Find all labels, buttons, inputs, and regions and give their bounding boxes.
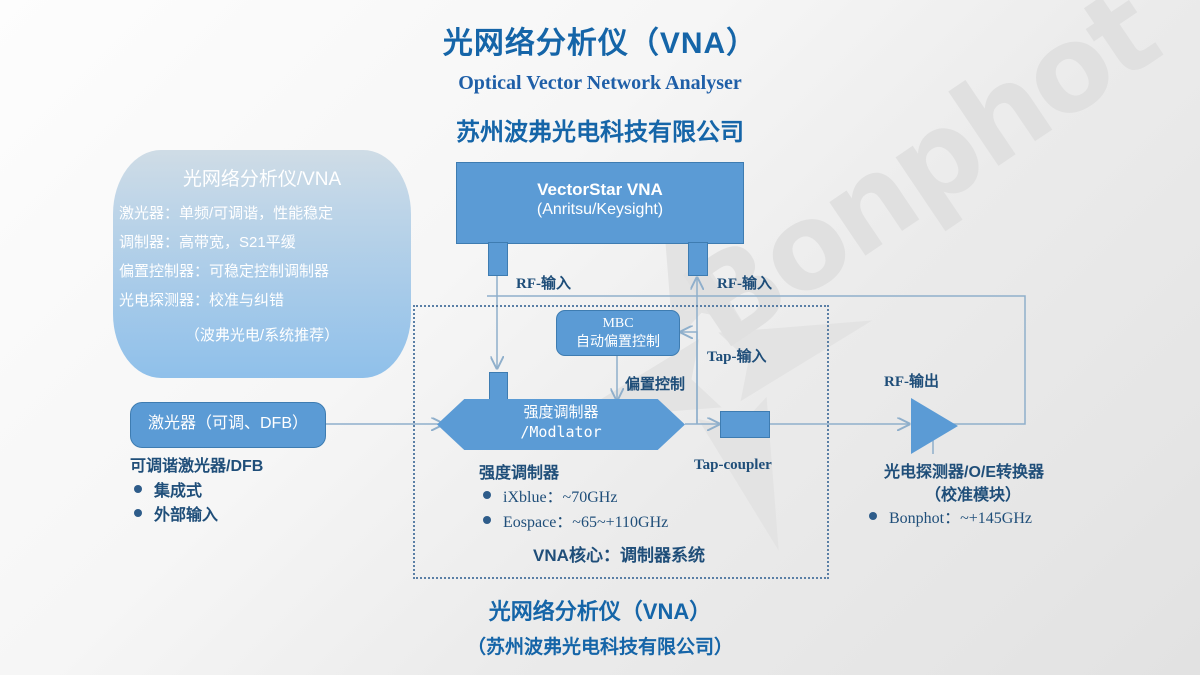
detector-note-text: Bonphot：~+145GHz (889, 504, 1032, 528)
spec-line-modulator: 调制器：高带宽，S21平缓 (119, 231, 417, 252)
page-title-cn: 光网络分析仪（VNA） (0, 18, 1200, 62)
company-name: 苏州波弗光电科技有限公司 (0, 112, 1200, 147)
mbc-line2: 自动偏置控制 (557, 333, 679, 351)
label-rf-input-right: RF-输入 (717, 272, 772, 293)
vna-port-left[interactable] (488, 242, 508, 276)
vectorstar-vna-box[interactable]: VectorStar VNA (Anritsu/Keysight) (456, 162, 744, 244)
detector-notes-heading-1: 光电探测器/O/E转换器 (884, 458, 1044, 482)
core-caption: VNA核心：调制器系统 (413, 541, 825, 566)
laser-note-item: 外部输入 (134, 501, 218, 525)
vna-box-line2: (Anritsu/Keysight) (457, 200, 743, 220)
detector-note-item: Bonphot：~+145GHz (869, 504, 1032, 528)
laser-note-item: 集成式 (134, 477, 202, 501)
modulator-note-text: Eospace：~65~+110GHz (503, 508, 668, 532)
footer-line-2: （苏州波弗光电科技有限公司） (0, 632, 1200, 659)
label-rf-input-left: RF-输入 (516, 272, 571, 293)
bullet-icon (869, 512, 877, 520)
spec-panel-heading: 光网络分析仪/VNA (113, 164, 411, 191)
bullet-icon (134, 485, 142, 493)
modulator-line2: /Modlator (437, 423, 685, 442)
vna-box-line1: VectorStar VNA (457, 179, 743, 200)
detector-notes-heading-2: （校准模块） (925, 481, 1021, 505)
spec-line-note: （波弗光电/系统推荐） (113, 324, 411, 345)
modulator-line1: 强度调制器 (437, 404, 685, 423)
modulator-note-item: iXblue：~70GHz (483, 483, 617, 507)
intensity-modulator-shape[interactable]: 强度调制器 /Modlator (437, 399, 685, 450)
spec-line-laser: 激光器：单频/可调谐，性能稳定 (119, 202, 417, 223)
laser-note-text: 外部输入 (154, 501, 218, 525)
mbc-bias-controller-box[interactable]: MBC 自动偏置控制 (556, 310, 680, 356)
spec-summary-panel: 光网络分析仪/VNA 激光器：单频/可调谐，性能稳定 调制器：高带宽，S21平缓… (113, 150, 411, 378)
label-tap-coupler: Tap-coupler (694, 457, 772, 474)
tap-coupler-box[interactable] (720, 411, 770, 438)
laser-notes-heading: 可调谐激光器/DFB (130, 452, 263, 476)
page-title-en: Optical Vector Network Analyser (0, 72, 1200, 95)
slide-canvas: Bonphot 光网络分析仪（VNA） (0, 0, 1200, 675)
modulator-note-item: Eospace：~65~+110GHz (483, 508, 668, 532)
photodetector-triangle[interactable] (911, 398, 958, 454)
modulator-notes-heading: 强度调制器 (479, 459, 559, 483)
label-bias-control: 偏置控制 (625, 373, 685, 394)
bullet-icon (483, 516, 491, 524)
mbc-line1: MBC (557, 315, 679, 333)
bullet-icon (134, 509, 142, 517)
label-rf-output: RF-输出 (884, 370, 939, 391)
label-tap-input: Tap-输入 (707, 345, 766, 366)
spec-line-bias: 偏置控制器：可稳定控制调制器 (119, 260, 417, 281)
laser-box-label: 激光器（可调、DFB） (131, 414, 325, 434)
modulator-note-text: iXblue：~70GHz (503, 483, 617, 507)
bullet-icon (483, 491, 491, 499)
laser-note-text: 集成式 (154, 477, 202, 501)
laser-source-box[interactable]: 激光器（可调、DFB） (130, 402, 326, 448)
spec-line-detector: 光电探测器：校准与纠错 (119, 289, 417, 310)
vna-port-right[interactable] (688, 242, 708, 276)
footer-line-1: 光网络分析仪（VNA） (0, 594, 1200, 626)
